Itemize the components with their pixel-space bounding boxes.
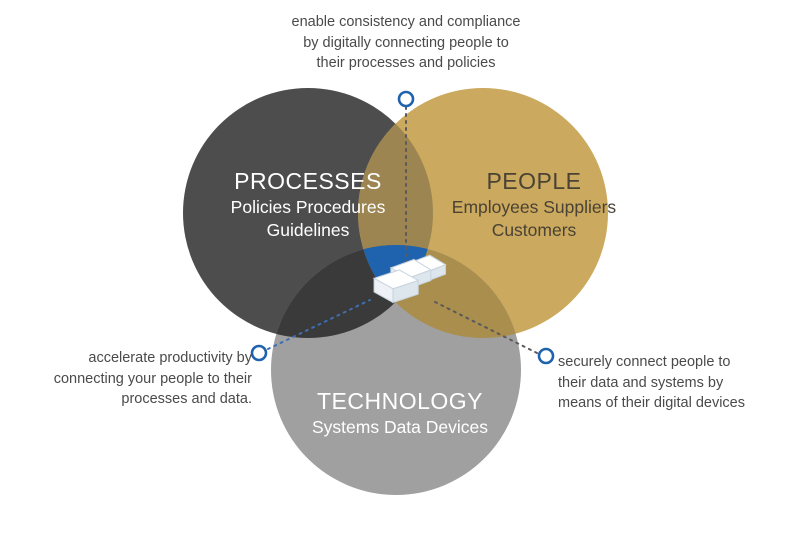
marker-top	[399, 92, 413, 106]
label-technology-title: TECHNOLOGY	[300, 388, 500, 414]
label-technology-items: Systems Data Devices	[300, 416, 500, 439]
marker-left	[252, 346, 266, 360]
annotation-top: enable consistency and compliance by dig…	[268, 12, 544, 74]
label-processes: PROCESSES Policies Procedures Guidelines	[197, 168, 419, 242]
label-people: PEOPLE Employees Suppliers Customers	[440, 168, 628, 242]
label-people-title: PEOPLE	[440, 168, 628, 194]
label-processes-title: PROCESSES	[197, 168, 419, 194]
label-technology: TECHNOLOGY Systems Data Devices	[300, 388, 500, 439]
venn-svg	[0, 0, 789, 548]
label-processes-items: Policies Procedures Guidelines	[197, 196, 419, 242]
annotation-right: securely connect people to their data an…	[558, 352, 774, 414]
marker-right	[539, 349, 553, 363]
label-people-items: Employees Suppliers Customers	[440, 196, 628, 242]
venn-diagram: PROCESSES Policies Procedures Guidelines…	[0, 0, 789, 548]
annotation-left: accelerate productivity by connecting yo…	[18, 348, 252, 410]
